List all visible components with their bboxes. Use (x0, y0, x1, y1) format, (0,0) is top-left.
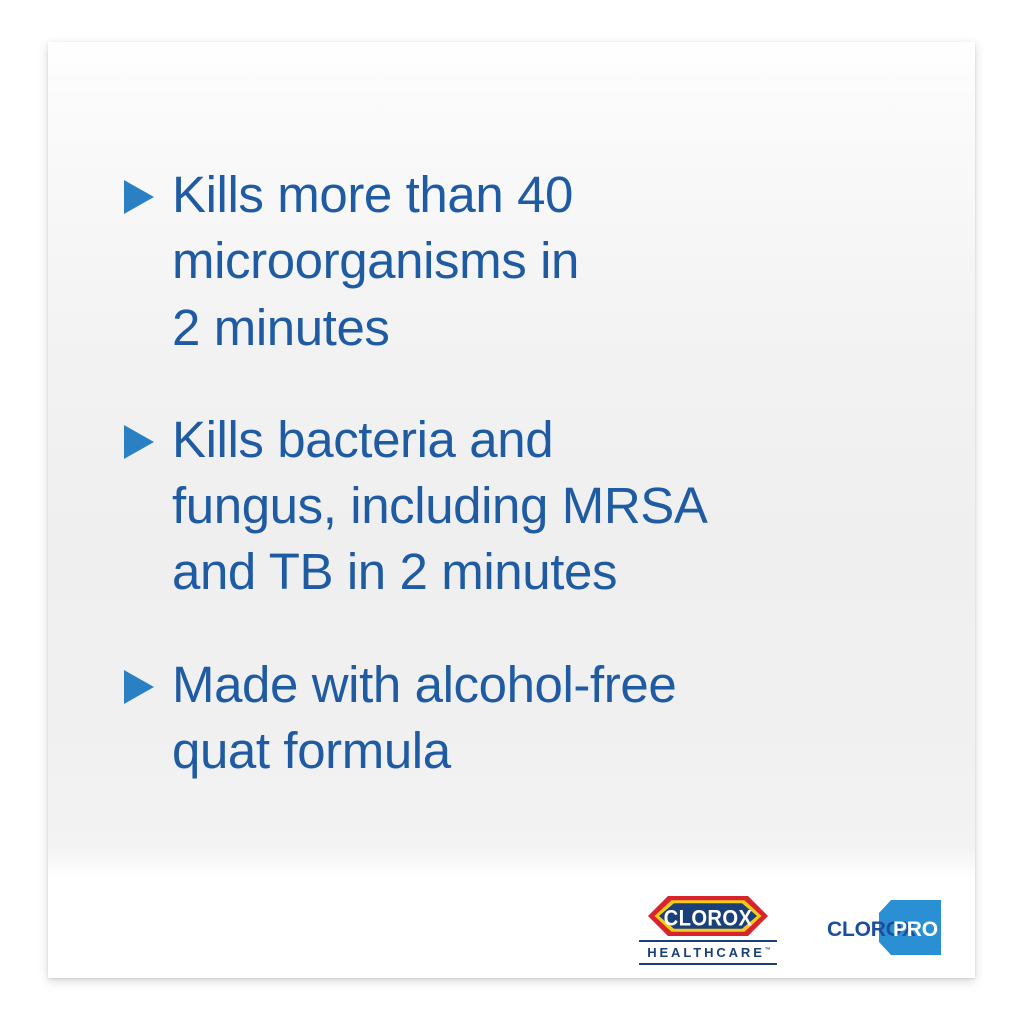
svg-text:PRO: PRO (893, 918, 938, 941)
triangle-right-icon (124, 425, 154, 459)
benefits-list: Kills more than 40 microorganisms in 2 m… (124, 162, 944, 784)
triangle-right-icon (124, 180, 154, 214)
product-benefits-card-page: Kills more than 40 microorganisms in 2 m… (0, 0, 1024, 1024)
healthcare-rule-bottom (639, 963, 777, 965)
svg-text:™: ™ (935, 945, 942, 952)
healthcare-wordmark: HEALTHCARE™ (639, 940, 777, 965)
cloroxpro-logo: CLOROX PRO ™ (823, 898, 947, 960)
healthcare-text: HEALTHCARE (647, 945, 765, 960)
healthcare-label: HEALTHCARE™ (639, 942, 777, 963)
triangle-right-icon (124, 670, 154, 704)
list-item: Kills more than 40 microorganisms in 2 m… (124, 162, 944, 361)
svg-text:CLOROX: CLOROX (664, 906, 753, 930)
trademark-symbol: ™ (765, 947, 771, 953)
benefit-text: Made with alcohol-free quat formula (172, 652, 944, 785)
clorox-healthcare-logo: CLOROX HEALTHCARE™ (639, 894, 777, 965)
list-item: Made with alcohol-free quat formula (124, 652, 944, 785)
benefit-text: Kills more than 40 microorganisms in 2 m… (172, 162, 944, 361)
brand-footer: CLOROX HEALTHCARE™ CLOROX PRO ™ (48, 880, 975, 978)
product-card: Kills more than 40 microorganisms in 2 m… (48, 42, 975, 978)
clorox-diamond-icon: CLOROX (646, 894, 770, 938)
list-item: Kills bacteria and fungus, including MRS… (124, 407, 944, 606)
benefit-text: Kills bacteria and fungus, including MRS… (172, 407, 944, 606)
